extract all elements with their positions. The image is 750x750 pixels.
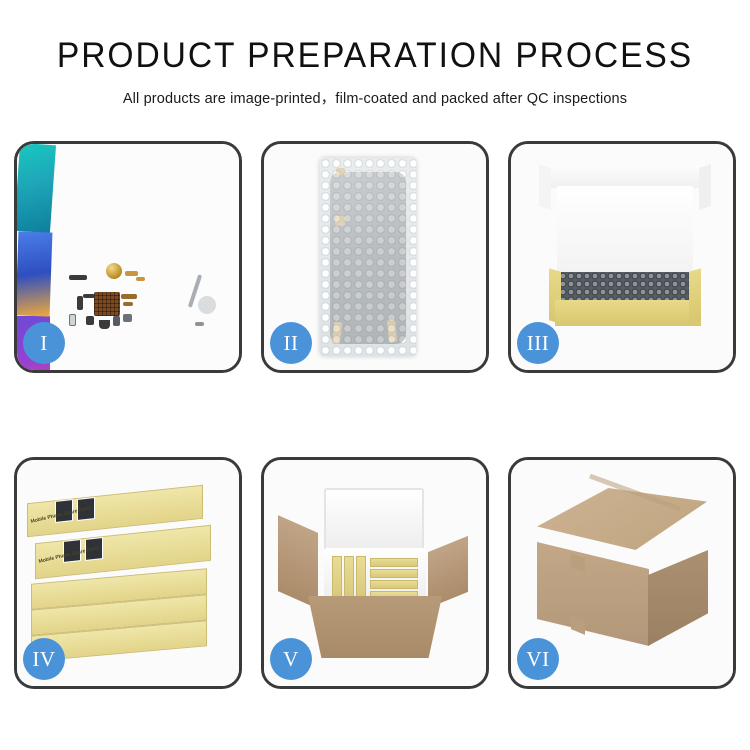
product-preparation-infographic: PRODUCT PREPARATION PROCESS All products… (0, 0, 750, 750)
process-step-4[interactable]: Mobile Phone Spare Parts Mobile Phone Sp… (14, 457, 242, 689)
process-step-1[interactable]: I (14, 141, 242, 373)
step-badge-5: V (270, 638, 312, 680)
process-step-6[interactable]: VI (508, 457, 736, 689)
process-step-grid: I II (14, 141, 736, 689)
step-badge-1: I (23, 322, 65, 364)
step-badge-2: II (270, 322, 312, 364)
step-badge-4: IV (23, 638, 65, 680)
page-title: PRODUCT PREPARATION PROCESS (15, 38, 735, 75)
process-step-2[interactable]: II (261, 141, 489, 373)
header: PRODUCT PREPARATION PROCESS All products… (0, 0, 750, 108)
process-step-3[interactable]: III (508, 141, 736, 373)
step-badge-3: III (517, 322, 559, 364)
step-badge-6: VI (517, 638, 559, 680)
page-subtitle: All products are image-printed，film-coat… (0, 87, 750, 108)
process-step-5[interactable]: V (261, 457, 489, 689)
